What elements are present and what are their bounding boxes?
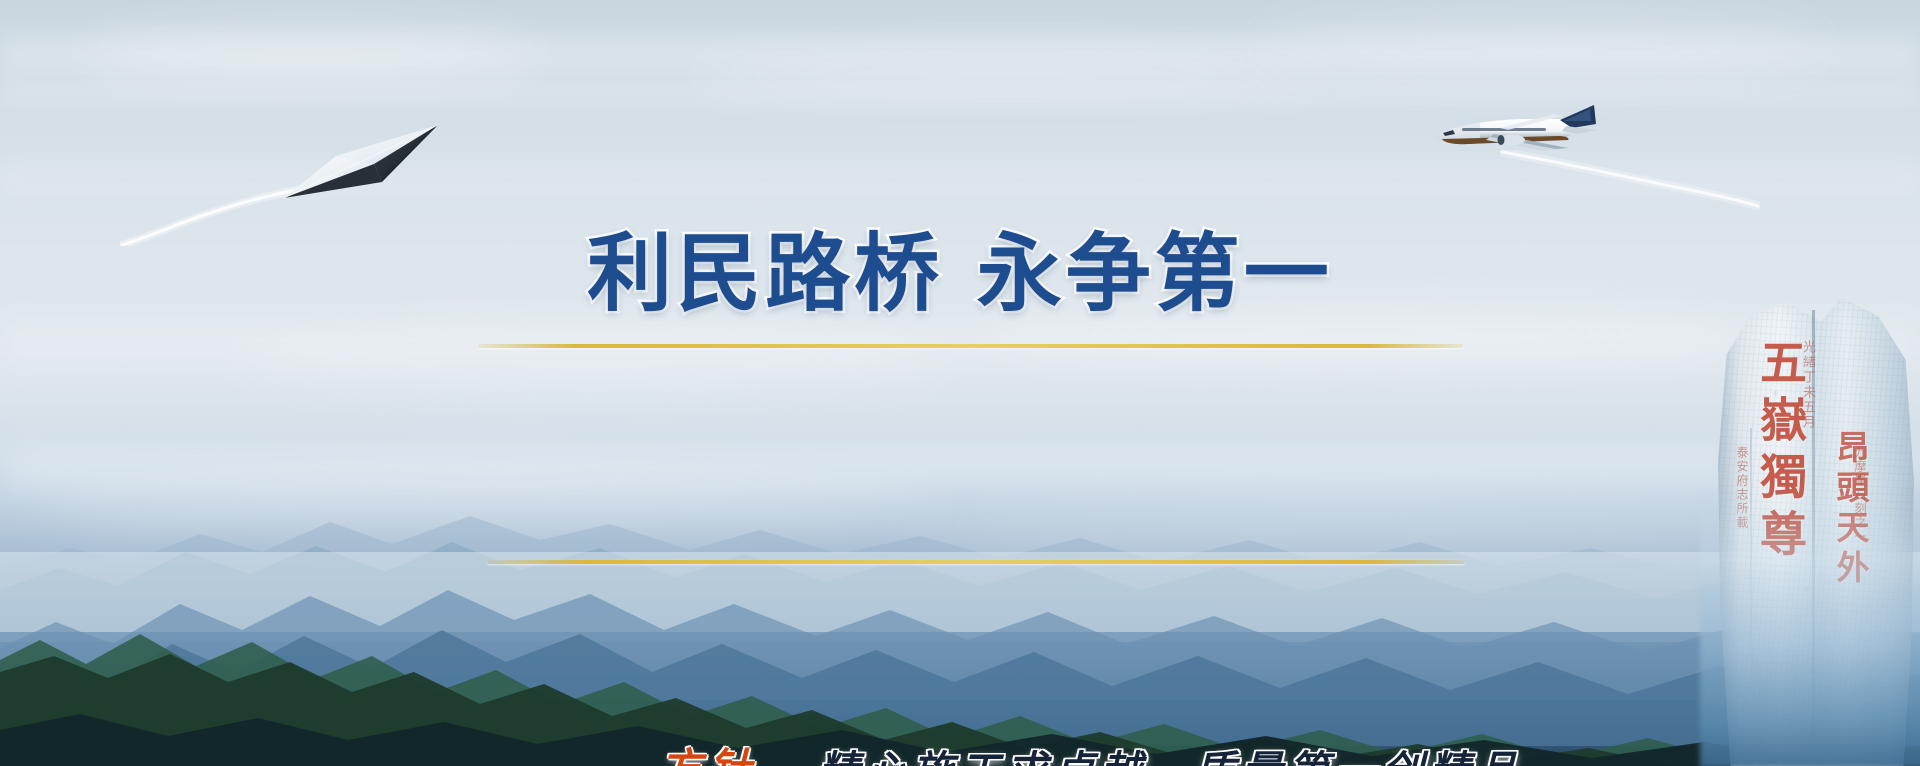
policy-text-body: 精心施工求卓越，质量第一创精品 (818, 747, 1523, 766)
mountain-range-mid (0, 560, 1920, 700)
cloud-wisp (80, 30, 540, 82)
policy-text: 精心施工求卓越，质量第一创精品 (818, 737, 1523, 766)
monument-mist-overlay (1700, 488, 1920, 766)
stone-monument: 五嶽獨尊 昂頭天外 光緒丁未五月 泰安府志所載 九摩崖石刻之一 (1714, 288, 1920, 766)
cloud-wisp (700, 54, 1320, 98)
page-title-text: 利民路桥 永争第一 (587, 205, 1333, 328)
slogan-block: 质量 方针 精心施工求卓越，质量第一创精品 目标 工程合格率达100%，争创优良 (0, 355, 1920, 570)
divider-top (478, 344, 1463, 348)
policy-tag: 方针 (660, 735, 758, 766)
cloud-wisp (1260, 20, 1820, 78)
page-title: 利民路桥 永争第一 (0, 205, 1920, 328)
airliner-icon (1428, 104, 1596, 166)
paper-plane-icon (278, 122, 443, 207)
monument-side-text-a: 光緒丁未五月 (1798, 340, 1817, 430)
cloud-band (0, 20, 1920, 90)
hero-banner: 利民路桥 永争第一 质量 方针 精心施工求卓越，质量第一创精品 目标 工程合格率… (0, 0, 1920, 766)
mountain-range-near-mid (0, 596, 1920, 746)
cloud-band (0, 70, 1920, 116)
